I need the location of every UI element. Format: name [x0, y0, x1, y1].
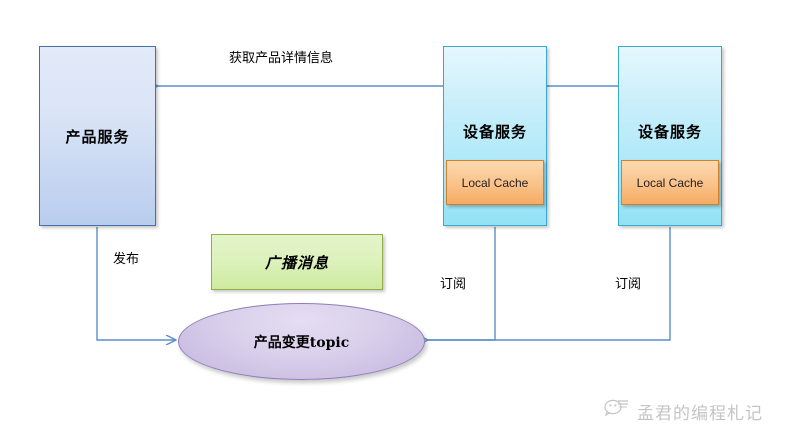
diagram-canvas: 产品服务 设备服务 Local Cache 设备服务 Local Cache 广… — [0, 0, 792, 441]
node-device-service-2[interactable]: 设备服务 Local Cache — [618, 46, 722, 226]
watermark-text: 孟君的编程札记 — [637, 399, 763, 424]
watermark: 孟君的编程札记 — [604, 398, 763, 425]
edge-label-subscribe-1: 订阅 — [440, 273, 466, 292]
wechat-icon — [604, 398, 630, 425]
local-cache-1-label: Local Cache — [462, 176, 529, 190]
edge-label-fetch-detail: 获取产品详情信息 — [229, 47, 333, 66]
node-product-service[interactable]: 产品服务 — [39, 46, 156, 226]
local-cache-1[interactable]: Local Cache — [446, 160, 544, 205]
node-broadcast-message[interactable]: 广播消息 — [211, 234, 383, 290]
edge-label-subscribe-2: 订阅 — [615, 273, 641, 292]
node-product-service-label: 产品服务 — [65, 126, 129, 147]
local-cache-2[interactable]: Local Cache — [621, 160, 719, 205]
node-device-service-2-label: 设备服务 — [638, 121, 702, 142]
edge-label-publish: 发布 — [113, 248, 139, 267]
node-device-service-1[interactable]: 设备服务 Local Cache — [443, 46, 547, 226]
local-cache-2-label: Local Cache — [637, 176, 704, 190]
node-device-service-1-label: 设备服务 — [463, 121, 527, 142]
node-product-change-topic[interactable]: 产品变更topic — [178, 303, 425, 380]
node-product-change-topic-label: 产品变更topic — [254, 332, 349, 352]
edge-publish — [97, 227, 176, 340]
node-broadcast-message-label: 广播消息 — [265, 252, 329, 273]
